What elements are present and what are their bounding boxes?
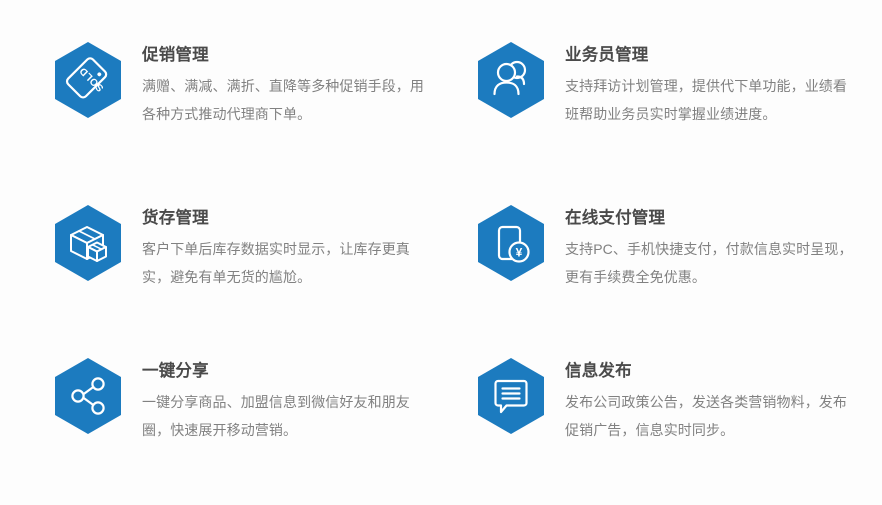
feature-card-online-payment-management: ¥ 在线支付管理 支持PC、手机快捷支付，付款信息实时呈现，更有手续费全免优惠。 <box>478 205 855 291</box>
feature-card-information-publishing: 信息发布 发布公司政策公告，发送各类营销物料，发布促销广告，信息实时同步。 <box>478 358 855 444</box>
two-people-icon <box>478 42 544 118</box>
feature-card-inventory-management: 货存管理 客户下单后库存数据实时显示，让库存更真实，避免有单无货的尴尬。 <box>55 205 432 291</box>
svg-text:¥: ¥ <box>516 246 523 260</box>
feature-card-body: 在线支付管理 支持PC、手机快捷支付，付款信息实时呈现，更有手续费全免优惠。 <box>565 205 855 291</box>
price-tag-sold-icon: SOLD <box>55 42 121 118</box>
feature-description: 发布公司政策公告，发送各类营销物料，发布促销广告，信息实时同步。 <box>565 389 855 444</box>
feature-description: 支持PC、手机快捷支付，付款信息实时呈现，更有手续费全免优惠。 <box>565 236 855 291</box>
feature-title: 促销管理 <box>142 44 432 66</box>
speech-bubble-icon <box>478 358 544 434</box>
feature-grid: SOLD 促销管理 满赠、满减、满折、直降等多种促销手段，用各种方式推动代理商下… <box>0 0 882 505</box>
mobile-payment-icon: ¥ <box>478 205 544 281</box>
feature-title: 在线支付管理 <box>565 207 855 229</box>
feature-title: 货存管理 <box>142 207 432 229</box>
feature-card-body: 促销管理 满赠、满减、满折、直降等多种促销手段，用各种方式推动代理商下单。 <box>142 42 432 128</box>
feature-title: 信息发布 <box>565 360 855 382</box>
feature-title: 一键分享 <box>142 360 432 382</box>
feature-card-body: 货存管理 客户下单后库存数据实时显示，让库存更真实，避免有单无货的尴尬。 <box>142 205 432 291</box>
feature-card-one-click-share: 一键分享 一键分享商品、加盟信息到微信好友和朋友圈，快速展开移动营销。 <box>55 358 432 444</box>
feature-card-salesperson-management: 业务员管理 支持拜访计划管理，提供代下单功能，业绩看班帮助业务员实时掌握业绩进度… <box>478 42 855 128</box>
feature-description: 一键分享商品、加盟信息到微信好友和朋友圈，快速展开移动营销。 <box>142 389 432 444</box>
feature-description: 客户下单后库存数据实时显示，让库存更真实，避免有单无货的尴尬。 <box>142 236 432 291</box>
feature-card-body: 信息发布 发布公司政策公告，发送各类营销物料，发布促销广告，信息实时同步。 <box>565 358 855 444</box>
feature-title: 业务员管理 <box>565 44 855 66</box>
feature-card-promotion-management: SOLD 促销管理 满赠、满减、满折、直降等多种促销手段，用各种方式推动代理商下… <box>55 42 432 128</box>
package-boxes-icon <box>55 205 121 281</box>
feature-card-body: 业务员管理 支持拜访计划管理，提供代下单功能，业绩看班帮助业务员实时掌握业绩进度… <box>565 42 855 128</box>
feature-card-body: 一键分享 一键分享商品、加盟信息到微信好友和朋友圈，快速展开移动营销。 <box>142 358 432 444</box>
share-nodes-icon <box>55 358 121 434</box>
feature-description: 满赠、满减、满折、直降等多种促销手段，用各种方式推动代理商下单。 <box>142 73 432 128</box>
feature-description: 支持拜访计划管理，提供代下单功能，业绩看班帮助业务员实时掌握业绩进度。 <box>565 73 855 128</box>
